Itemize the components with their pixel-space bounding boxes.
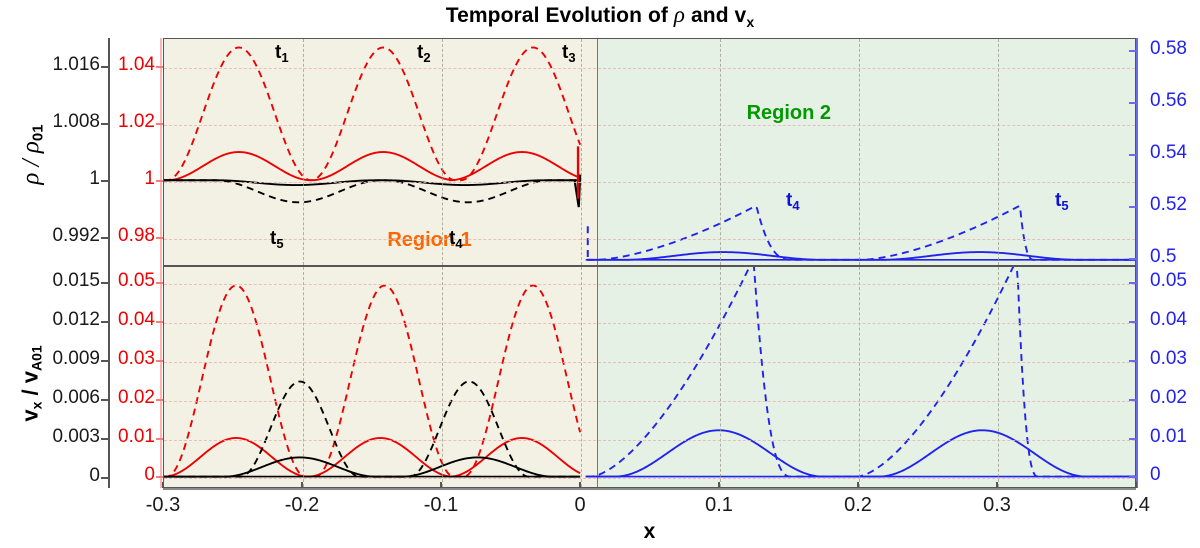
x-gridline: [720, 39, 721, 265]
y-tick-label: 0.54: [1150, 142, 1187, 164]
time-annotation-t3: t3: [562, 42, 576, 65]
velocity-panel: [163, 266, 1136, 488]
annotation-subscript: 4: [455, 236, 462, 251]
y-tick-label: 0.98: [0, 225, 155, 247]
x-tick-mark: [440, 482, 442, 488]
chart-root: Temporal Evolution of ρ and vx Region 2 …: [0, 0, 1200, 548]
vx-blue-dashed-curve: [587, 266, 1135, 477]
y-tick-mark: [1129, 206, 1136, 208]
x-tick-mark: [579, 482, 581, 488]
time-annotation-t5b: t5: [1055, 190, 1069, 213]
region2-label: Region 2: [747, 102, 831, 125]
time-annotation-t1: t1: [275, 42, 289, 65]
y-gridline: [164, 239, 1135, 240]
x-gridline: [859, 267, 860, 487]
title-mid: and v: [685, 4, 746, 27]
y-tick-mark: [1129, 50, 1136, 52]
x-tick-label: -0.2: [285, 494, 319, 517]
x-tick-mark: [1135, 482, 1137, 488]
x-gridline: [442, 39, 443, 265]
y-tick-mark: [1129, 399, 1136, 401]
v-blue-solid-curve: [587, 252, 1135, 260]
annotation-subscript: 3: [568, 50, 575, 65]
x-gridline: [998, 267, 999, 487]
x-gridline: [303, 39, 304, 265]
x-gridline: [581, 39, 582, 265]
vx-red-dashed-curve: [164, 286, 580, 477]
y-tick-mark: [1129, 360, 1136, 362]
x-tick-label: 0.4: [1122, 494, 1150, 517]
y-tick-label: 0.05: [0, 270, 155, 292]
vx-red-solid-curve: [164, 438, 580, 477]
y-gridline: [164, 182, 1135, 183]
y-tick-label: 0.58: [1150, 38, 1187, 60]
y-tick-label: 0.02: [0, 387, 155, 409]
x-tick-mark: [996, 482, 998, 488]
x-tick-label: 0.2: [844, 494, 872, 517]
x-gridline: [998, 39, 999, 265]
y-tick-label: 0: [1150, 464, 1161, 486]
y-tick-label: 0.52: [1150, 194, 1187, 216]
time-annotation-t4b: t4: [786, 190, 800, 213]
y-tick-label: 0.01: [1150, 426, 1187, 448]
y-tick-label: 0.02: [1150, 387, 1187, 409]
density-curves: [164, 39, 1135, 265]
x-tick-mark: [718, 482, 720, 488]
y-tick-mark: [156, 66, 163, 68]
y-tick-mark: [1129, 438, 1136, 440]
y-tick-label: 0.03: [1150, 348, 1187, 370]
y-tick-mark: [156, 282, 163, 284]
annotation-subscript: 1: [281, 50, 288, 65]
ylabel-v: v: [18, 409, 43, 421]
y-gridline: [164, 125, 1135, 126]
y-tick-mark: [1129, 321, 1136, 323]
top-panel-red-axis-spine: [160, 38, 162, 266]
x-axis-label: x: [163, 520, 1136, 544]
y-tick-label: 1: [0, 168, 155, 190]
y-tick-label: 0.05: [1150, 270, 1187, 292]
y-gridline: [164, 478, 1135, 479]
rho-red-solid-curve: [164, 152, 580, 180]
vx-black-dashed-curve: [164, 382, 580, 477]
x-tick-label: 0: [574, 494, 585, 517]
y-tick-mark: [1129, 154, 1136, 156]
y-tick-label: 0.03: [0, 348, 155, 370]
page-title: Temporal Evolution of ρ and vx: [0, 2, 1200, 30]
y-tick-mark: [156, 438, 163, 440]
y-gridline: [164, 362, 1135, 363]
bottom-panel-red-axis-spine: [160, 266, 162, 488]
y-gridline: [164, 440, 1135, 441]
x-gridline: [720, 267, 721, 487]
annotation-subscript: 2: [423, 50, 430, 65]
y-tick-label: 1.04: [0, 54, 155, 76]
vx-blue-solid-curve: [586, 430, 1135, 476]
x-gridline: [442, 267, 443, 487]
title-subscript: x: [746, 14, 754, 30]
velocity-curves: [164, 267, 1135, 487]
y-tick-label: 0: [0, 464, 155, 486]
time-annotation-t2: t2: [417, 42, 431, 65]
y-tick-label: 0.04: [0, 309, 155, 331]
y-tick-mark: [156, 399, 163, 401]
y-tick-mark: [156, 476, 163, 478]
top-panel-blue-axis-spine: [1136, 38, 1138, 266]
y-tick-label: 0.01: [0, 426, 155, 448]
y-tick-mark: [156, 321, 163, 323]
y-tick-mark: [1129, 282, 1136, 284]
x-tick-label: -0.3: [146, 494, 180, 517]
y-tick-mark: [156, 180, 163, 182]
y-gridline: [164, 68, 1135, 69]
x-gridline: [581, 267, 582, 487]
title-rho-symbol: ρ: [674, 2, 685, 27]
x-gridline: [303, 267, 304, 487]
y-tick-mark: [1129, 102, 1136, 104]
y-tick-label: 0.56: [1150, 90, 1187, 112]
x-tick-label: 0.3: [983, 494, 1011, 517]
y-tick-label: 1.02: [0, 111, 155, 133]
y-tick-mark: [1129, 258, 1136, 260]
rho-black-dashed-curve: [164, 180, 580, 202]
y-tick-mark: [1129, 476, 1136, 478]
x-gridline: [859, 39, 860, 265]
v-blue-dashed-curve: [587, 206, 1135, 260]
title-prefix: Temporal Evolution of: [446, 4, 674, 27]
x-tick-mark: [301, 482, 303, 488]
y-tick-mark: [156, 123, 163, 125]
y-gridline: [164, 323, 1135, 324]
annotation-subscript: 4: [792, 198, 799, 213]
annotation-subscript: 5: [276, 236, 283, 251]
y-tick-mark: [156, 360, 163, 362]
x-tick-label: 0.1: [705, 494, 733, 517]
y-tick-label: 0.5: [1150, 246, 1176, 268]
vx-black-solid-curve: [164, 457, 580, 476]
y-gridline: [164, 401, 1135, 402]
annotation-subscript: 5: [1061, 198, 1068, 213]
time-annotation-t4: t4: [449, 228, 463, 251]
density-panel: Region 2 Region 1: [163, 38, 1136, 266]
bottom-panel-black-axis-spine: [108, 266, 110, 488]
bottom-panel-blue-axis-spine: [1136, 266, 1138, 488]
y-gridline: [164, 284, 1135, 285]
x-tick-mark: [162, 482, 164, 488]
y-tick-label: 0.04: [1150, 309, 1187, 331]
x-tick-label: -0.1: [424, 494, 458, 517]
time-annotation-t5: t5: [270, 228, 284, 251]
y-tick-mark: [156, 237, 163, 239]
x-tick-mark: [857, 482, 859, 488]
